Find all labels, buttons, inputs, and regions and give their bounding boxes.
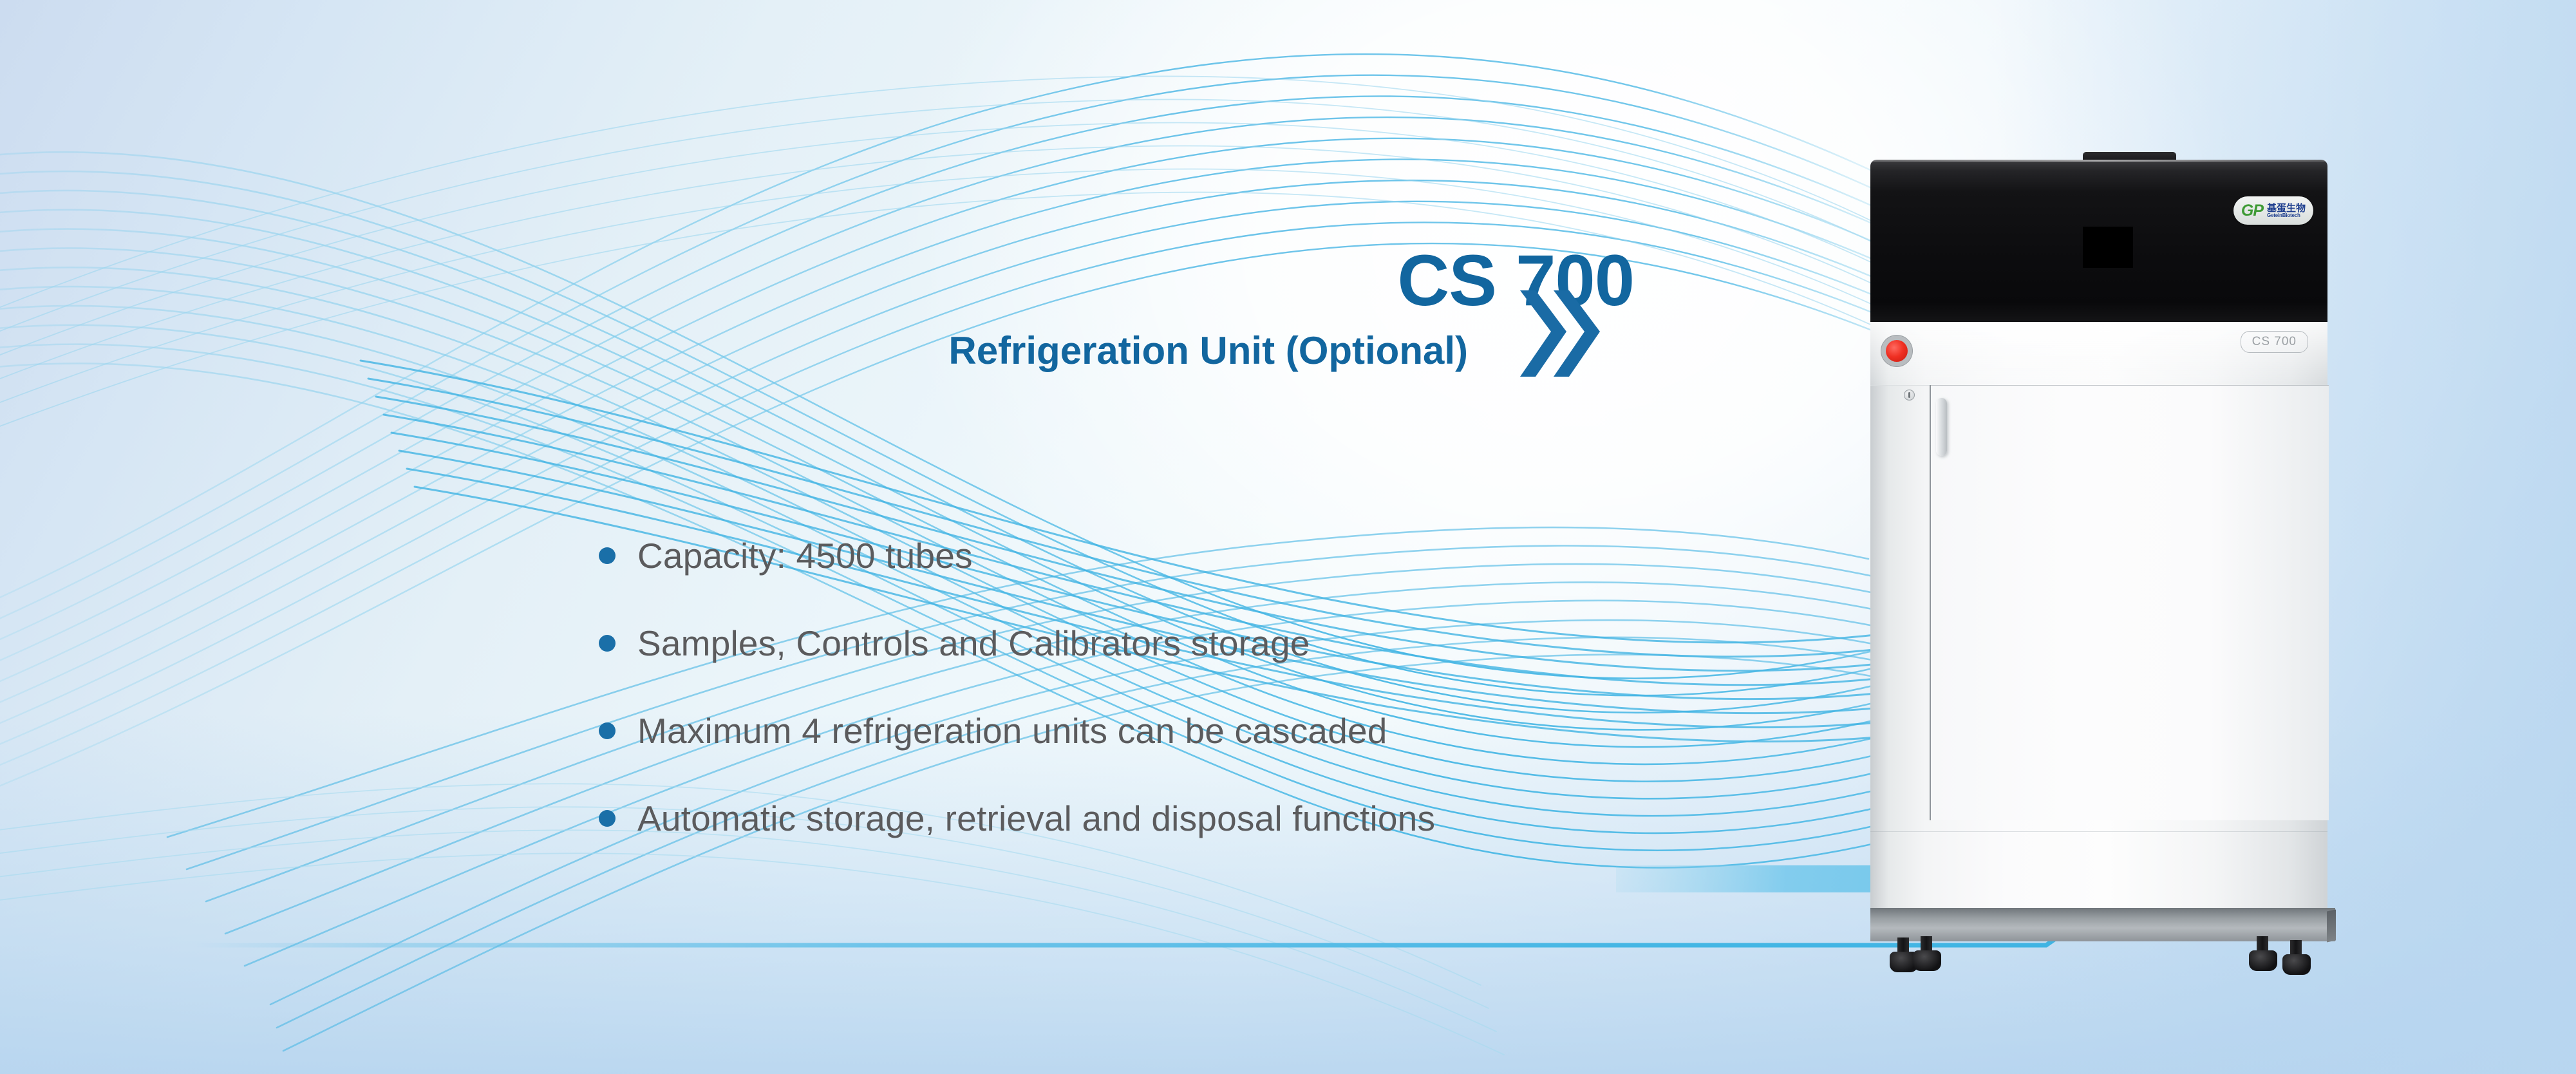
banner-canvas: CS 700 Refrigeration Unit (Optional) Cap… bbox=[0, 0, 2576, 1074]
bullet-dot-icon bbox=[599, 635, 616, 652]
foot-pad bbox=[2282, 954, 2311, 975]
brand-name-block: 基蛋生物 GeteinBiotech bbox=[2267, 203, 2306, 218]
leveling-foot bbox=[2282, 940, 2311, 975]
feature-text: Automatic storage, retrieval and disposa… bbox=[637, 798, 1435, 839]
list-item: Capacity: 4500 tubes bbox=[599, 512, 1822, 599]
product-body: CS 700 bbox=[1870, 322, 2327, 908]
subtitle-row: Refrigeration Unit (Optional) bbox=[682, 328, 1468, 373]
brand-badge: GP 基蛋生物 GeteinBiotech bbox=[2233, 196, 2313, 225]
inspection-window bbox=[2083, 227, 2133, 268]
feature-text: Samples, Controls and Calibrators storag… bbox=[637, 623, 1310, 664]
list-item: Samples, Controls and Calibrators storag… bbox=[599, 599, 1822, 687]
foot-pad bbox=[2249, 950, 2277, 971]
brand-name-chinese: 基蛋生物 bbox=[2267, 203, 2306, 213]
model-label: CS 700 bbox=[2241, 331, 2308, 353]
product-image-cs-700: GP 基蛋生物 GeteinBiotech CS 700 bbox=[1870, 160, 2327, 810]
leveling-foot bbox=[2249, 936, 2277, 971]
door-handle bbox=[1936, 398, 1947, 456]
door-lock-keyhole bbox=[1904, 390, 1915, 400]
page-subtitle: Refrigeration Unit (Optional) bbox=[948, 328, 1468, 373]
brand-name-latin: GeteinBiotech bbox=[2267, 213, 2300, 218]
feature-list: Capacity: 4500 tubes Samples, Controls a… bbox=[599, 512, 1822, 862]
horizontal-accent-line bbox=[0, 889, 2125, 966]
body-seam-line bbox=[1870, 831, 2327, 832]
power-indicator-light bbox=[1886, 340, 1908, 362]
feature-text: Maximum 4 refrigeration units can be cas… bbox=[637, 710, 1387, 751]
bullet-dot-icon bbox=[599, 722, 616, 739]
foot-pad bbox=[1913, 950, 1941, 971]
list-item: Maximum 4 refrigeration units can be cas… bbox=[599, 687, 1822, 775]
brand-mark-gp: GP bbox=[2241, 203, 2263, 219]
feature-text: Capacity: 4500 tubes bbox=[637, 535, 973, 576]
black-hood-panel: GP 基蛋生物 GeteinBiotech bbox=[1870, 160, 2327, 322]
list-item: Automatic storage, retrieval and disposa… bbox=[599, 775, 1822, 862]
front-door-panel bbox=[1930, 385, 2329, 820]
double-chevron-right-icon bbox=[1516, 285, 1600, 382]
bullet-dot-icon bbox=[599, 547, 616, 564]
leveling-foot bbox=[1913, 936, 1941, 971]
bullet-dot-icon bbox=[599, 810, 616, 827]
